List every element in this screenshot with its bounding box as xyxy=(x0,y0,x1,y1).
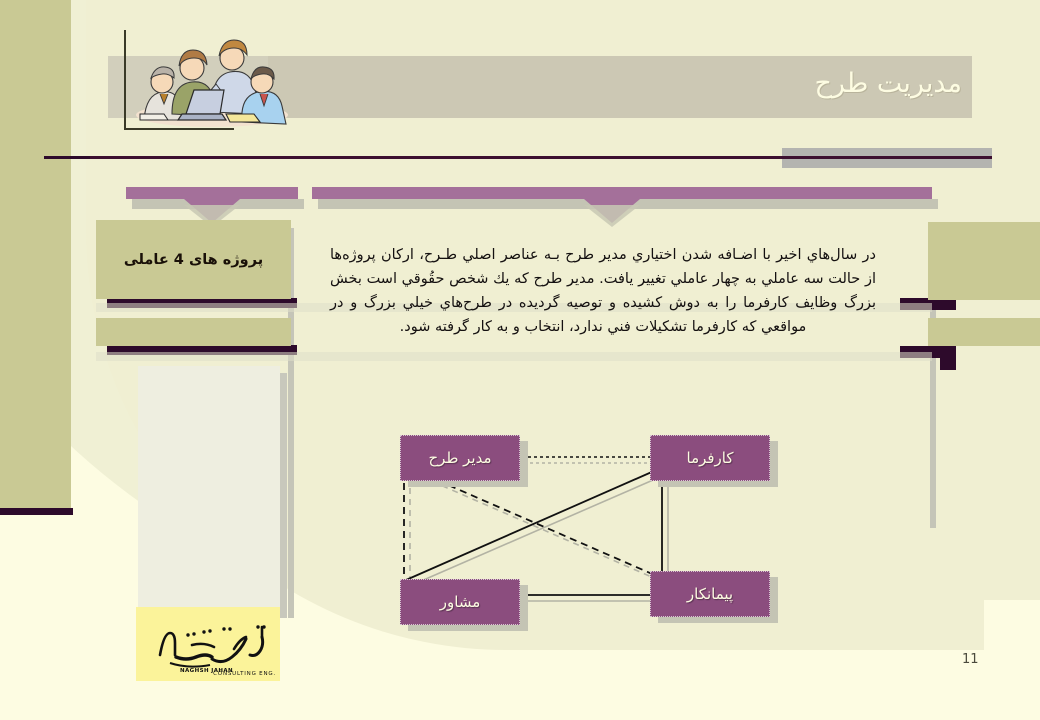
node-employer[interactable]: کارفرما xyxy=(650,435,770,481)
logo-calligraphy-icon xyxy=(146,615,274,671)
header-horizontal-rule xyxy=(124,128,234,130)
relationship-diagram: مدیر طرح کارفرما مشاور پیمانکار xyxy=(370,415,840,645)
page-title: مدیریت طرح xyxy=(815,68,962,99)
slide-root: مدیریت طرح پروژه های 4 عاملی در س xyxy=(0,0,1040,720)
node-contractor-label: پیمانکار xyxy=(687,585,733,603)
body-paragraph: در سال‌هاي اخير با اضـافه شدن اختياري مد… xyxy=(330,243,876,339)
left-accent-bar xyxy=(0,0,71,508)
left-accent-bar-footer xyxy=(0,508,73,515)
node-consultant-label: مشاور xyxy=(440,593,480,611)
arrow-banner-right xyxy=(312,187,932,233)
node-manager-label: مدیر طرح xyxy=(428,449,491,467)
node-consultant[interactable]: مشاور xyxy=(400,579,520,625)
page-number: 11 xyxy=(962,652,979,667)
header-sep-gray-bottom xyxy=(782,159,992,168)
wash-band-2 xyxy=(96,352,932,361)
header-sep-gray-top xyxy=(782,148,992,156)
logo-subtitle-en: CONSULTING ENG. xyxy=(213,671,276,677)
sidebar-box-1[interactable]: پروژه های 4 عاملی xyxy=(96,220,291,299)
header-separator-rule-left xyxy=(44,156,90,159)
node-employer-label: کارفرما xyxy=(687,449,734,467)
node-contractor[interactable]: پیمانکار xyxy=(650,571,770,617)
company-logo[interactable]: NAGHSH JAHAN CONSULTING ENG. xyxy=(136,607,280,681)
corner-fade xyxy=(984,600,1040,720)
team-meeting-clipart xyxy=(126,22,296,128)
right-box-1[interactable] xyxy=(928,222,1040,300)
sidebar-box-2[interactable] xyxy=(96,318,291,346)
node-manager[interactable]: مدیر طرح xyxy=(400,435,520,481)
right-box-2[interactable] xyxy=(928,318,1040,346)
sidebar-box-1-label: پروژه های 4 عاملی xyxy=(96,252,291,268)
sidebar-content-panel xyxy=(138,366,280,611)
